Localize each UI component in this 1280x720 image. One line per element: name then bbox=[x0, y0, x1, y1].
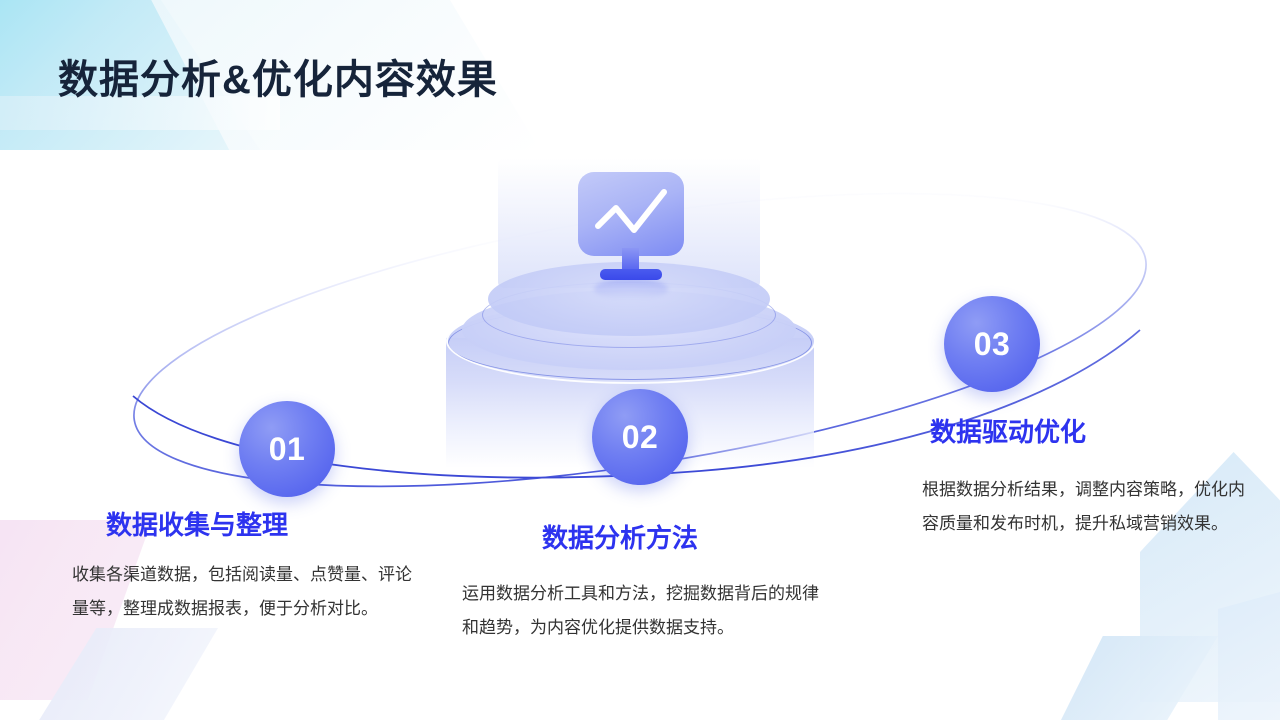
section-block-01: 数据收集与整理 收集各渠道数据，包括阅读量、点赞量、评论量等，整理成数据报表，便… bbox=[72, 505, 424, 626]
section-01-heading: 数据收集与整理 bbox=[106, 505, 424, 542]
slide-canvas: 数据分析&优化内容效果 bbox=[0, 0, 1280, 720]
step-badge-03[interactable]: 03 bbox=[944, 296, 1040, 392]
section-02-body: 运用数据分析工具和方法，挖掘数据背后的规律和趋势，为内容优化提供数据支持。 bbox=[462, 577, 822, 645]
step-badge-02[interactable]: 02 bbox=[592, 389, 688, 485]
step-badge-01[interactable]: 01 bbox=[239, 401, 335, 497]
section-01-body: 收集各渠道数据，包括阅读量、点赞量、评论量等，整理成数据报表，便于分析对比。 bbox=[72, 558, 424, 626]
section-02-heading: 数据分析方法 bbox=[542, 518, 822, 555]
section-03-body: 根据数据分析结果，调整内容策略，优化内容质量和发布时机，提升私域营销效果。 bbox=[922, 473, 1254, 541]
step-badge-01-number: 01 bbox=[269, 431, 306, 468]
step-badge-02-number: 02 bbox=[622, 419, 659, 456]
section-03-heading: 数据驱动优化 bbox=[930, 412, 1254, 449]
section-block-03: 数据驱动优化 根据数据分析结果，调整内容策略，优化内容质量和发布时机，提升私域营… bbox=[922, 412, 1254, 541]
section-block-02: 数据分析方法 运用数据分析工具和方法，挖掘数据背后的规律和趋势，为内容优化提供数… bbox=[462, 518, 822, 645]
step-badge-03-number: 03 bbox=[974, 326, 1011, 363]
